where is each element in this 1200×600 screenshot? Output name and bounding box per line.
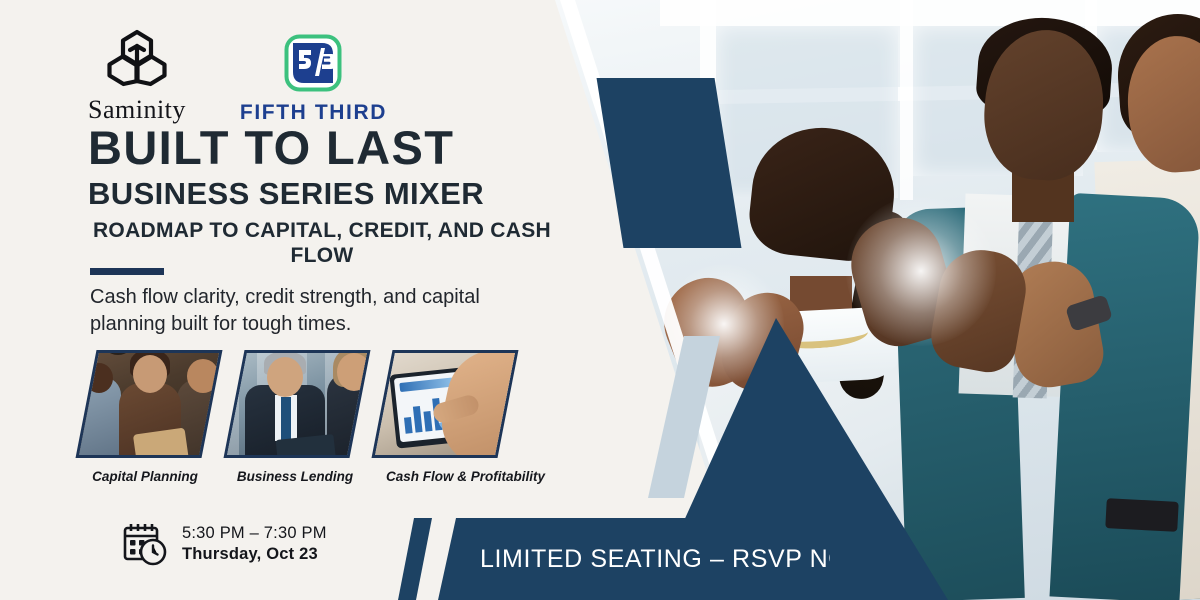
colleagues-meeting-illustration: [76, 350, 223, 458]
rsvp-cta-banner[interactable]: LIMITED SEATING – RSVP NOW: [438, 518, 830, 600]
fifth-third-logo: FIFTH THIRD: [240, 34, 387, 125]
businessman-handshake-illustration: [224, 350, 371, 458]
saminity-hexagon-knot-icon: [106, 28, 168, 88]
headline-block: BUILT TO LAST BUSINESS SERIES MIXER ROAD…: [88, 124, 566, 269]
event-datetime-text: 5:30 PM – 7:30 PM Thursday, Oct 23: [182, 523, 327, 565]
event-time: 5:30 PM – 7:30 PM: [182, 523, 327, 544]
topic-card-cash-flow: Cash Flow & Profitability: [382, 350, 508, 484]
topic-card-image: [224, 350, 371, 458]
event-datetime: 5:30 PM – 7:30 PM Thursday, Oct 23: [122, 521, 327, 567]
topic-card-caption: Business Lending: [230, 469, 360, 484]
saminity-logo: Saminity: [88, 28, 186, 125]
tablet-charts-illustration: [372, 350, 519, 458]
calendar-clock-icon: [122, 521, 168, 567]
event-title: BUILT TO LAST: [88, 124, 566, 172]
event-description: Cash flow clarity, credit strength, and …: [90, 284, 550, 338]
audience-man-jacket-right: [1050, 193, 1200, 600]
event-subtitle: BUSINESS SERIES MIXER: [88, 177, 566, 210]
partner-logos: Saminity FIFTH THIRD: [88, 28, 387, 125]
event-tagline: ROADMAP TO CAPITAL, CREDIT, AND CASH FLO…: [88, 219, 556, 269]
topic-card-image: [372, 350, 519, 458]
window-mullion: [900, 0, 913, 200]
event-date: Thursday, Oct 23: [182, 544, 327, 565]
topic-card-business-lending: Business Lending: [234, 350, 360, 484]
topic-card-image: [76, 350, 223, 458]
event-banner: Saminity FIFTH THIRD BUILT TO LAST BUSIN…: [0, 0, 1200, 600]
rsvp-cta-label: LIMITED SEATING – RSVP NOW: [480, 545, 873, 574]
topic-cards: Capital Planning Business Lending: [86, 350, 508, 484]
audience-man-belt: [1105, 498, 1178, 532]
topic-card-caption: Capital Planning: [78, 469, 212, 484]
fifth-third-bank-icon: [284, 34, 342, 92]
topic-card-caption: Cash Flow & Profitability: [386, 469, 508, 484]
topic-card-capital-planning: Capital Planning: [86, 350, 212, 484]
window-mullion: [660, 0, 1200, 26]
accent-rule: [90, 268, 164, 275]
